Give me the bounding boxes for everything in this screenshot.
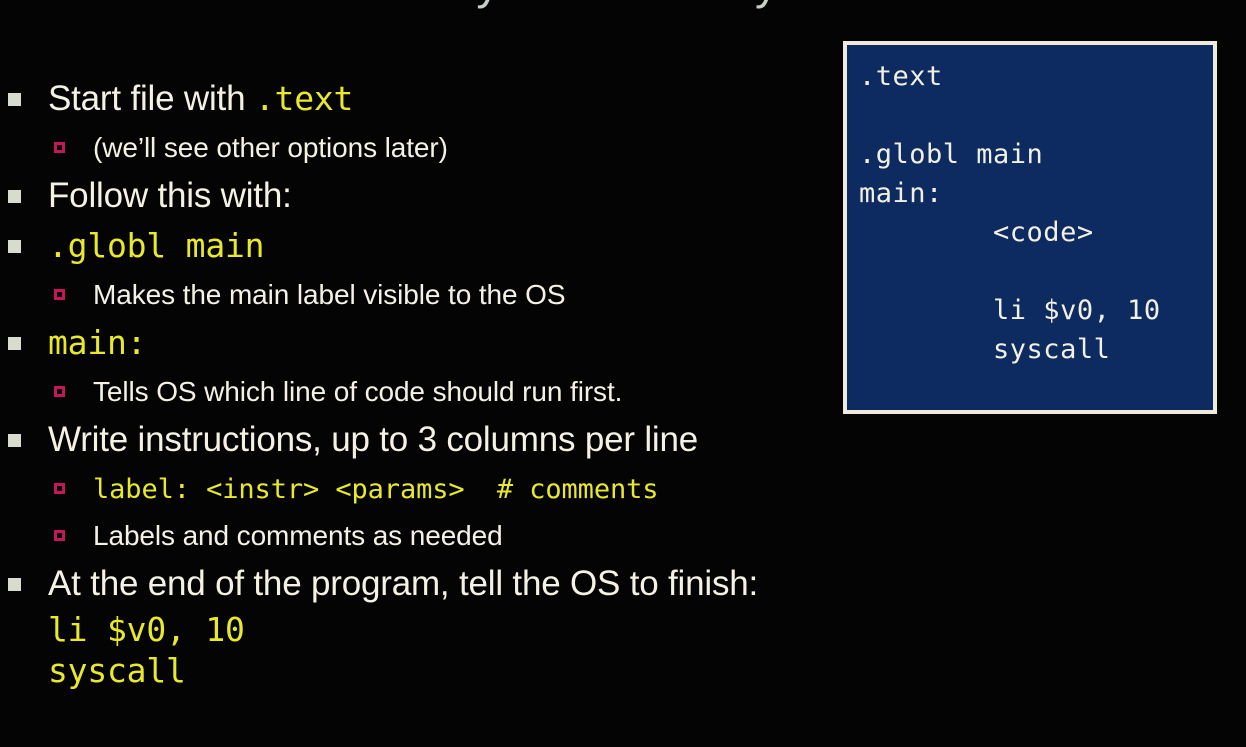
hollow-square-bullet-icon: [54, 289, 65, 300]
bullet-item-level-1: Follow this with:: [0, 171, 840, 221]
hollow-square-bullet-icon: [54, 483, 65, 494]
hollow-square-bullet-icon: [54, 530, 65, 541]
bullet-item-level-1: main:: [0, 318, 840, 368]
bullet-text: Write instructions, up to 3 columns per …: [48, 420, 698, 459]
filled-square-bullet-icon: [8, 337, 21, 350]
bullet-code-text: label: <instr> <params> # comments: [93, 474, 658, 505]
bullet-item-level-1: Write instructions, up to 3 columns per …: [0, 415, 840, 465]
bullet-code-text: li $v0, 10: [48, 610, 245, 649]
bullet-text: Tells OS which line of code should run f…: [93, 376, 622, 407]
bullet-text: Start file with: [48, 79, 255, 118]
code-example-text: .text .globl main main: <code> li $v0, 1…: [859, 57, 1161, 369]
cropped-slide-title: Assembly File Anatomy: [0, 0, 1246, 9]
bullet-list: Start file with .text(we’ll see other op…: [0, 74, 840, 691]
bullet-code-text: main:: [48, 323, 146, 362]
filled-square-bullet-icon: [8, 93, 21, 106]
filled-square-bullet-icon: [8, 240, 21, 253]
hollow-square-bullet-icon: [54, 386, 65, 397]
filled-square-bullet-icon: [8, 434, 21, 447]
bullet-item-level-2: Labels and comments as needed: [0, 512, 840, 559]
bullet-text: Follow this with:: [48, 176, 292, 215]
bullet-text: At the end of the program, tell the OS t…: [48, 564, 758, 603]
hollow-square-bullet-icon: [54, 142, 65, 153]
bullet-item-level-1: .globl main: [0, 221, 840, 271]
bullet-item-level-2: Tells OS which line of code should run f…: [0, 368, 840, 415]
bullet-item-level-2: (we’ll see other options later): [0, 124, 840, 171]
bullet-item-level-2: label: <instr> <params> # comments: [0, 465, 840, 512]
bullet-code-text: .text: [255, 79, 353, 118]
bullet-text: Makes the main label visible to the OS: [93, 279, 565, 310]
bullet-item-level-1: Start file with .text: [0, 74, 840, 124]
bullet-continuation-line: li $v0, 10: [0, 609, 840, 650]
filled-square-bullet-icon: [8, 578, 21, 591]
bullet-continuation-line: syscall: [0, 650, 840, 691]
filled-square-bullet-icon: [8, 190, 21, 203]
bullet-item-level-1: At the end of the program, tell the OS t…: [0, 559, 840, 609]
bullet-text: (we’ll see other options later): [93, 132, 448, 163]
bullet-code-text: syscall: [48, 651, 186, 690]
slide-canvas: Assembly File Anatomy Start file with .t…: [0, 0, 1246, 747]
bullet-text: Labels and comments as needed: [93, 520, 503, 551]
slide-title-text: Assembly File Anatomy: [300, 0, 778, 9]
code-example-panel: .text .globl main main: <code> li $v0, 1…: [843, 41, 1217, 414]
bullet-item-level-2: Makes the main label visible to the OS: [0, 271, 840, 318]
bullet-code-text: .globl main: [48, 226, 264, 265]
